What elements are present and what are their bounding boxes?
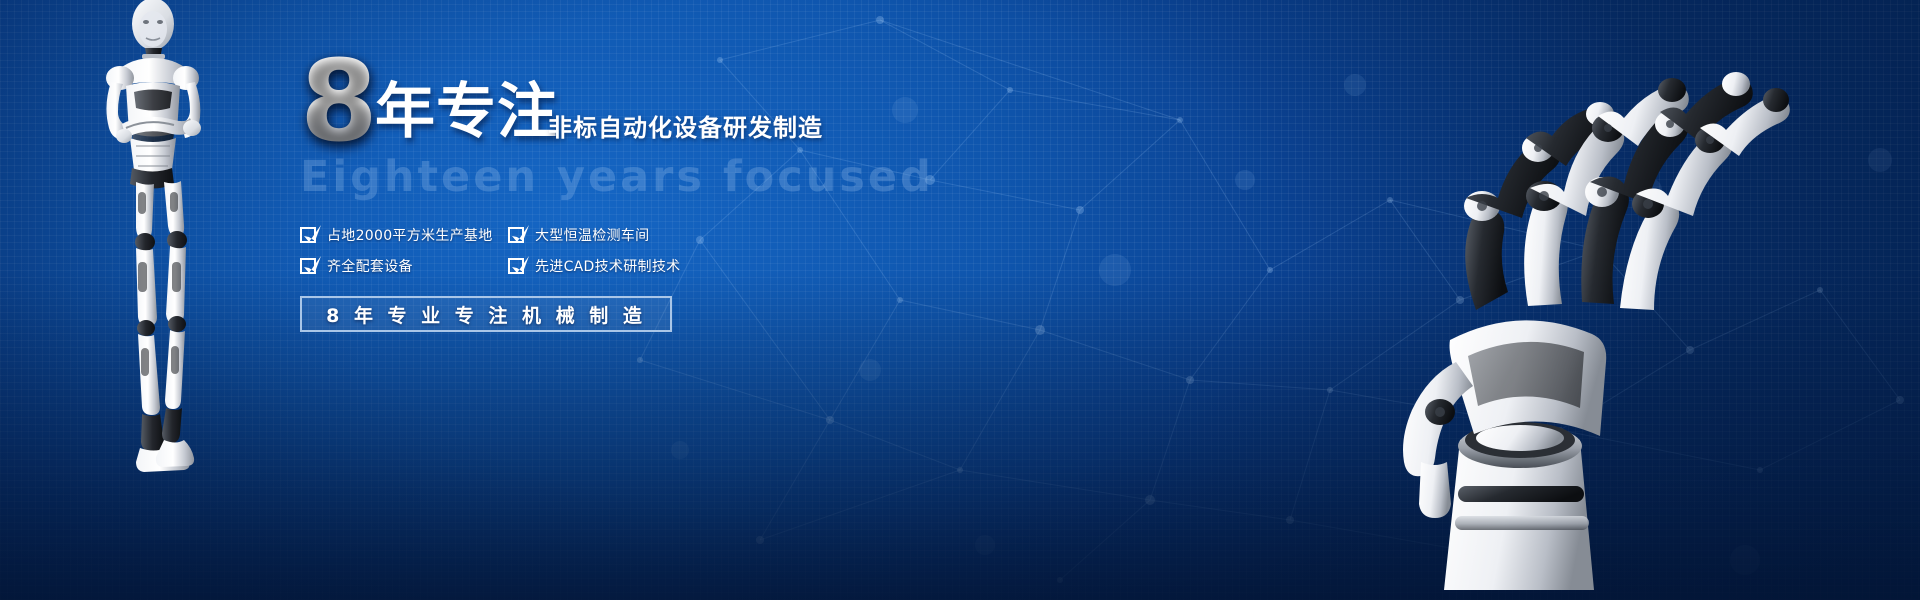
check-icon [300, 227, 316, 243]
headline-number: 8 [300, 46, 378, 158]
feature-item-2: 大型恒温检测车间 [508, 225, 700, 245]
slogan-box: 8 年 专 业 专 注 机 械 制 造 [300, 296, 672, 332]
feature-item-1: 占地2000平方米生产基地 [300, 225, 508, 245]
feature-label: 占地2000平方米生产基地 [327, 225, 493, 245]
robotic-hand-figure [1290, 10, 1890, 600]
headline-subtitle: 非标自动化设备研发制造 [548, 108, 823, 143]
check-icon [508, 258, 524, 274]
feature-item-3: 齐全配套设备 [300, 256, 508, 276]
feature-item-4: 先进CAD技术研制技术 [508, 256, 700, 276]
slogan-text: 8 年 专 业 专 注 机 械 制 造 [326, 301, 646, 328]
feature-label: 大型恒温检测车间 [535, 225, 649, 245]
check-icon [508, 227, 524, 243]
feature-list: 占地2000平方米生产基地 大型恒温检测车间 齐全配套设备 先进CAD技术研制技… [300, 225, 700, 276]
english-tagline: Eighteen years focused [300, 156, 1060, 199]
feature-label: 先进CAD技术研制技术 [535, 256, 680, 276]
humanoid-robot-figure [78, 0, 268, 482]
hero-banner: 8 年专注 非标自动化设备研发制造 Eighteen years focused… [0, 0, 1920, 600]
banner-content: 8 年专注 非标自动化设备研发制造 Eighteen years focused… [300, 64, 1060, 332]
feature-label: 齐全配套设备 [327, 256, 413, 276]
headline-unit: 年专注 [375, 82, 558, 142]
check-icon [300, 258, 316, 274]
headline-group: 8 年专注 非标自动化设备研发制造 [300, 64, 1060, 142]
